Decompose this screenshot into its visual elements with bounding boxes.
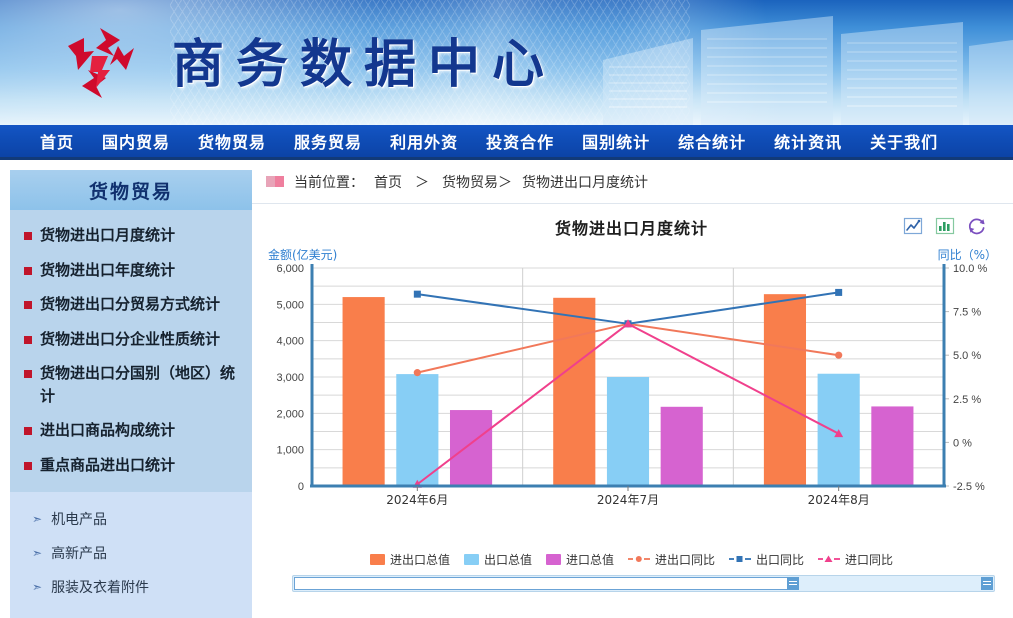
breadcrumb-prefix: 当前位置：: [294, 172, 364, 192]
main-navigation: 首页 国内贸易 货物贸易 服务贸易 利用外资 投资合作 国别统计 综合统计 统计…: [0, 125, 1013, 160]
svg-text:4,000: 4,000: [276, 336, 304, 348]
bar-chart-icon[interactable]: [935, 216, 955, 236]
legend-swatch: [370, 554, 385, 565]
bullet-square-icon: [24, 427, 32, 435]
refresh-icon[interactable]: [967, 216, 987, 236]
bullet-square-icon: [24, 370, 32, 378]
sidebar-subitem-hi-tech[interactable]: ➣ 高新产品: [10, 536, 252, 570]
legend-line-marker: [628, 554, 650, 564]
scrollbar-right-grip[interactable]: [981, 577, 993, 590]
nav-item-investment-coop[interactable]: 投资合作: [472, 129, 568, 153]
legend-item-出口同比[interactable]: 出口同比: [729, 551, 804, 568]
chart-legend: 进出口总值出口总值进口总值进出口同比出口同比进口同比: [260, 548, 1003, 570]
bullet-square-icon: [24, 232, 32, 240]
sidebar-item-label: 重点商品进出口统计: [40, 454, 175, 477]
svg-text:2024年6月: 2024年6月: [386, 493, 448, 507]
legend-label: 进出口同比: [655, 551, 715, 568]
y-axis-right-label: 同比（%）: [938, 246, 997, 263]
nav-item-about[interactable]: 关于我们: [856, 129, 952, 153]
sidebar-title: 货物贸易: [10, 170, 252, 210]
svg-text:6,000: 6,000: [276, 263, 304, 275]
sidebar-item-label: 货物进出口分企业性质统计: [40, 328, 220, 351]
svg-text:3,000: 3,000: [276, 372, 304, 384]
breadcrumb-marker-icon: [266, 176, 284, 187]
bullet-square-icon: [24, 462, 32, 470]
bullet-square-icon: [24, 267, 32, 275]
sidebar-item-label: 货物进出口月度统计: [40, 224, 175, 247]
sidebar-item-commodity-composition[interactable]: 进出口商品构成统计: [10, 413, 252, 448]
sidebar-item-annual-stats[interactable]: 货物进出口年度统计: [10, 253, 252, 288]
svg-text:2.5 %: 2.5 %: [953, 394, 981, 406]
page-content: 货物贸易 货物进出口月度统计 货物进出口年度统计 货物进出口分贸易方式统计 货物…: [0, 160, 1013, 615]
nav-item-foreign-investment[interactable]: 利用外资: [376, 129, 472, 153]
breadcrumb-current: 货物进出口月度统计: [522, 172, 648, 192]
chart-toolbar: [903, 216, 987, 236]
legend-item-出口总值[interactable]: 出口总值: [464, 551, 532, 568]
legend-label: 进出口总值: [390, 551, 450, 568]
chart-horizontal-scrollbar[interactable]: [292, 575, 995, 592]
ministry-of-commerce-logo: [62, 26, 140, 100]
nav-item-domestic[interactable]: 国内贸易: [88, 129, 184, 153]
sidebar-item-label: 货物进出口分国别（地区）统计: [40, 362, 244, 407]
sidebar-subitem-label: 机电产品: [51, 509, 107, 529]
nav-item-news[interactable]: 统计资讯: [760, 129, 856, 153]
main-panel: 当前位置： 首页 ＞ 货物贸易＞ 货物进出口月度统计 货物进出口月度统计: [252, 160, 1013, 615]
plot-area: 金额(亿美元) 同比（%） 01,0002,0003,0004,0005,000…: [260, 246, 1003, 546]
sidebar-item-by-enterprise-type[interactable]: 货物进出口分企业性质统计: [10, 322, 252, 357]
legend-line-marker: [818, 554, 840, 564]
svg-text:-2.5 %: -2.5 %: [953, 481, 985, 493]
chart-title: 货物进出口月度统计: [260, 212, 1003, 246]
nav-item-country-stats[interactable]: 国别统计: [568, 129, 664, 153]
sidebar-submenu: ➣ 机电产品 ➣ 高新产品 ➣ 服装及衣着附件: [10, 492, 252, 618]
svg-text:2024年7月: 2024年7月: [597, 493, 659, 507]
chevron-right-icon: ➣: [32, 547, 42, 559]
svg-text:0: 0: [298, 481, 304, 493]
banner-building-silhouette: [583, 0, 1013, 125]
scrollbar-thumb[interactable]: [294, 577, 799, 590]
bullet-square-icon: [24, 336, 32, 344]
sidebar-subitem-label: 服装及衣着附件: [51, 577, 149, 597]
legend-item-进口同比[interactable]: 进口同比: [818, 551, 893, 568]
svg-text:5.0 %: 5.0 %: [953, 350, 981, 362]
sidebar-item-by-country[interactable]: 货物进出口分国别（地区）统计: [10, 356, 252, 413]
y-axis-left-label: 金额(亿美元): [268, 246, 337, 263]
page-title: 商务数据中心: [172, 22, 556, 97]
sidebar-item-label: 货物进出口年度统计: [40, 259, 175, 282]
legend-label: 进口总值: [566, 551, 614, 568]
svg-text:10.0 %: 10.0 %: [953, 263, 987, 275]
legend-item-进口总值[interactable]: 进口总值: [546, 551, 614, 568]
scrollbar-left-grip[interactable]: [787, 577, 799, 590]
legend-item-进出口同比[interactable]: 进出口同比: [628, 551, 715, 568]
svg-text:2024年8月: 2024年8月: [808, 493, 870, 507]
chart-card: 货物进出口月度统计: [260, 212, 1003, 602]
chart-header: 货物进出口月度统计: [260, 212, 1003, 246]
sidebar-menu: 货物进出口月度统计 货物进出口年度统计 货物进出口分贸易方式统计 货物进出口分企…: [10, 210, 252, 492]
sidebar-item-key-commodities[interactable]: 重点商品进出口统计: [10, 448, 252, 483]
legend-line-marker: [729, 554, 751, 564]
sidebar-item-label: 货物进出口分贸易方式统计: [40, 293, 220, 316]
nav-item-comprehensive[interactable]: 综合统计: [664, 129, 760, 153]
nav-item-services[interactable]: 服务贸易: [280, 129, 376, 153]
breadcrumb: 当前位置： 首页 ＞ 货物贸易＞ 货物进出口月度统计: [252, 160, 1013, 204]
svg-text:1,000: 1,000: [276, 445, 304, 457]
nav-item-goods[interactable]: 货物贸易: [184, 129, 280, 153]
legend-swatch: [464, 554, 479, 565]
svg-text:5,000: 5,000: [276, 299, 304, 311]
bullet-square-icon: [24, 301, 32, 309]
sidebar: 货物贸易 货物进出口月度统计 货物进出口年度统计 货物进出口分贸易方式统计 货物…: [0, 160, 252, 615]
sidebar-item-label: 进出口商品构成统计: [40, 419, 175, 442]
nav-item-home[interactable]: 首页: [26, 129, 88, 153]
breadcrumb-link-home[interactable]: 首页: [374, 172, 402, 192]
line-chart-icon[interactable]: [903, 216, 923, 236]
sidebar-subitem-mechanical-electrical[interactable]: ➣ 机电产品: [10, 502, 252, 536]
sidebar-subitem-apparel[interactable]: ➣ 服装及衣着附件: [10, 570, 252, 604]
legend-item-进出口总值[interactable]: 进出口总值: [370, 551, 450, 568]
breadcrumb-separator: ＞: [412, 172, 432, 192]
legend-swatch: [546, 554, 561, 565]
sidebar-item-by-trade-mode[interactable]: 货物进出口分贸易方式统计: [10, 287, 252, 322]
chevron-right-icon: ➣: [32, 581, 42, 593]
legend-label: 出口总值: [484, 551, 532, 568]
svg-text:2,000: 2,000: [276, 408, 304, 420]
svg-text:7.5 %: 7.5 %: [953, 307, 981, 319]
site-banner: 商务数据中心: [0, 0, 1013, 125]
svg-text:0 %: 0 %: [953, 437, 972, 449]
sidebar-item-monthly-stats[interactable]: 货物进出口月度统计: [10, 218, 252, 253]
breadcrumb-link-goods-trade[interactable]: 货物贸易＞: [442, 172, 512, 192]
goods-trade-monthly-chart: 01,0002,0003,0004,0005,0006,000-2.5 %0 %…: [260, 262, 1000, 512]
legend-label: 进口同比: [845, 551, 893, 568]
chevron-right-icon: ➣: [32, 513, 42, 525]
sidebar-subitem-label: 高新产品: [51, 543, 107, 563]
legend-label: 出口同比: [756, 551, 804, 568]
